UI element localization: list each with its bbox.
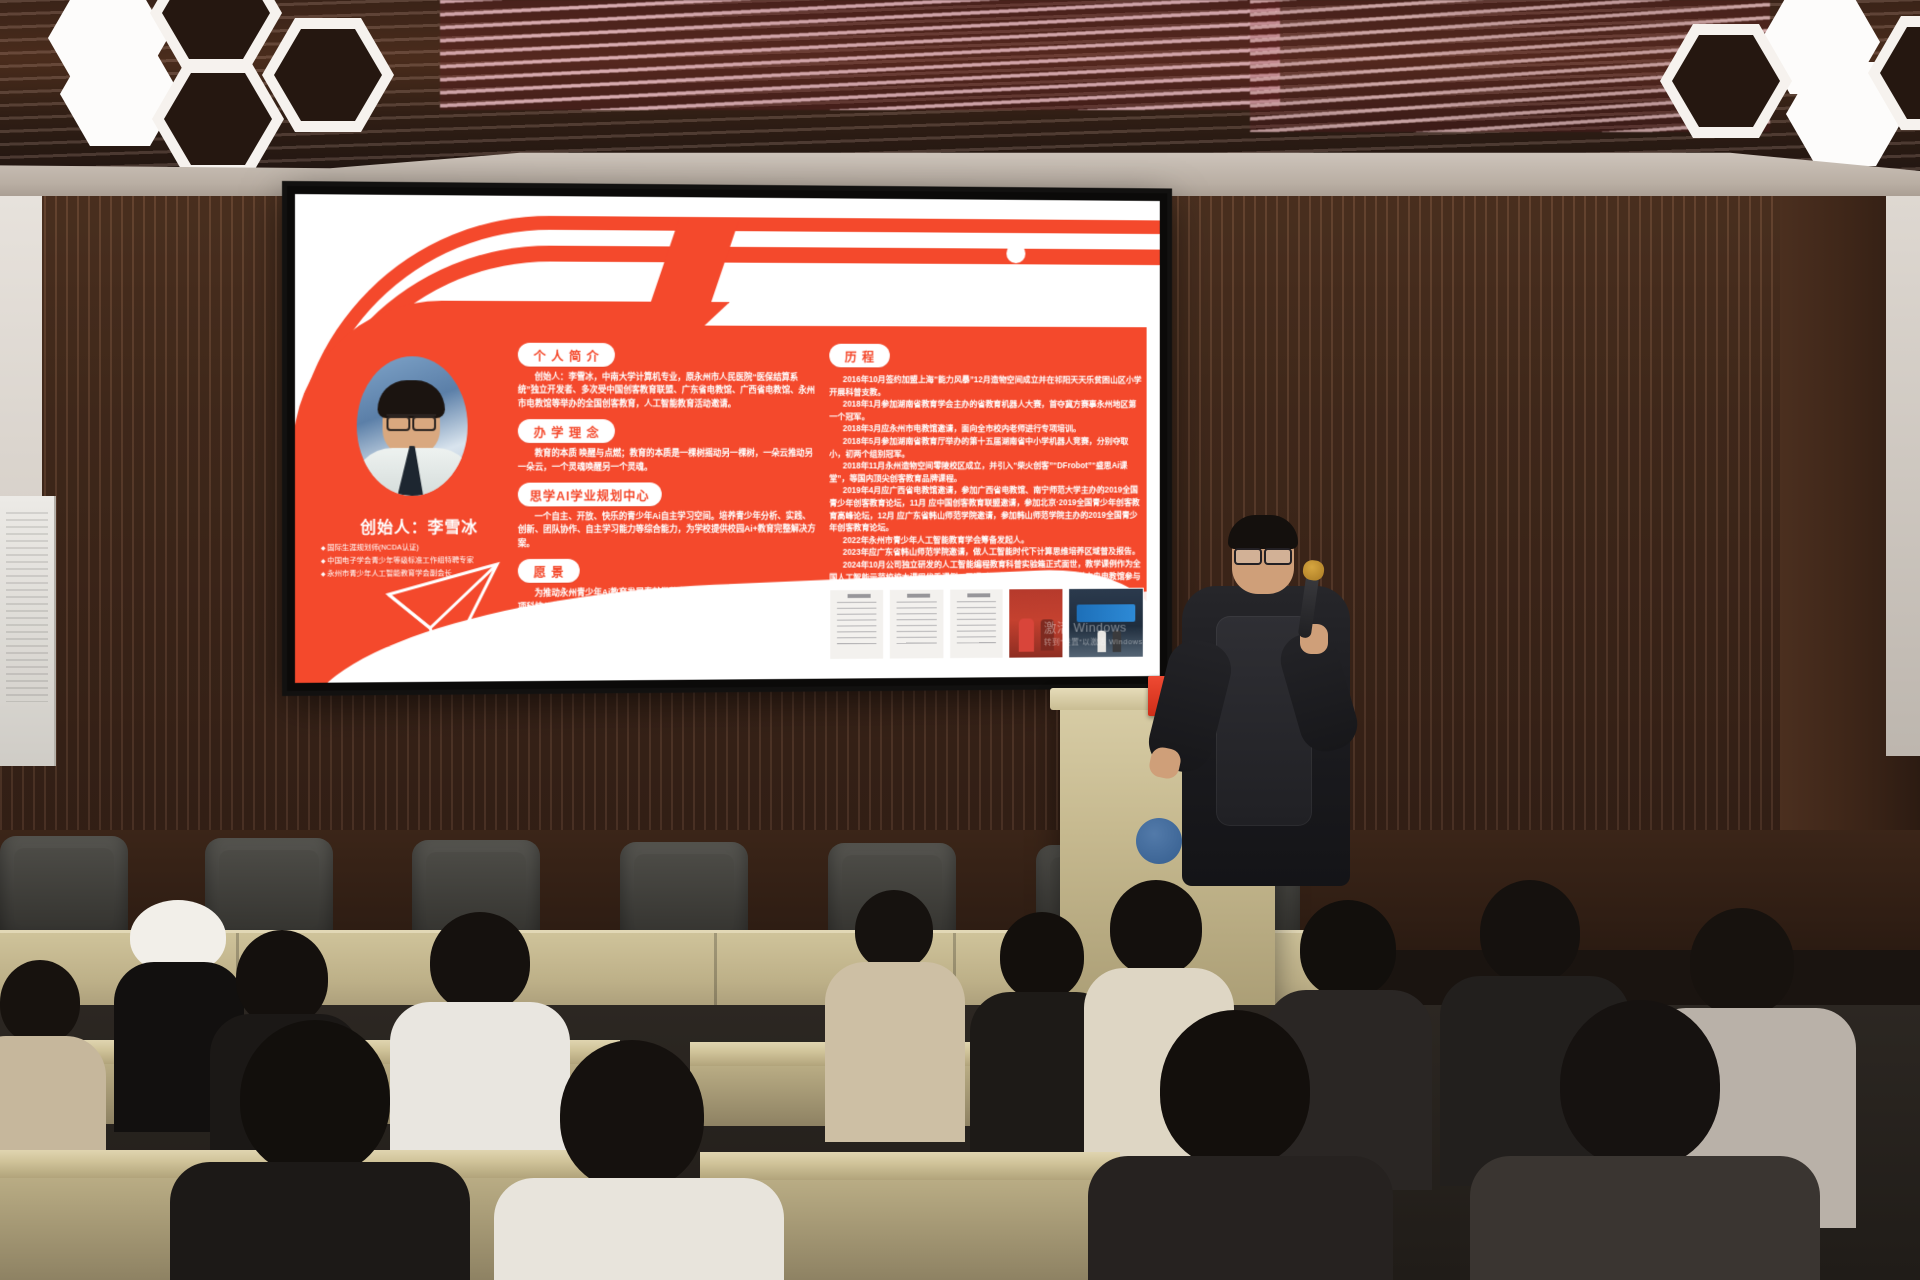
timeline-entry: 2018年1月参加湖南省教育学会主办的省教育机器人大赛，首夺冀方赛事永州地区第一… [829, 398, 1143, 423]
podium-emblem-icon [1136, 818, 1182, 864]
section-pill-profile: 个 人 简 介 [518, 343, 615, 367]
timeline-list: 2016年10月签约加盟上海“能力风暴”12月造物空间成立并在祁阳天天乐贫困山区… [829, 373, 1143, 608]
timeline-entry: 2023年应广东省韩山师范学院邀请，做人工智能时代下计算思维培养区域普及报告。 [829, 545, 1143, 559]
audience-head [1160, 1010, 1310, 1168]
audience-body [1470, 1156, 1820, 1280]
thumbnail-certificate-2 [889, 589, 944, 660]
presentation-scene: 创始人：李雪冰 国际生涯规划师(NCDA认证) 中国电子学会青少年等级标准工作组… [0, 0, 1920, 1280]
timeline-entry: 2019年4月应广西省电教馆邀请，参加广西省电教馆、南宁师范大学主办的2019全… [829, 484, 1143, 534]
audience-head [1300, 900, 1396, 998]
led-presentation-screen[interactable]: 创始人：李雪冰 国际生涯规划师(NCDA认证) 中国电子学会青少年等级标准工作组… [287, 186, 1167, 691]
ceiling-light-strip-center [440, 0, 1280, 110]
speaker-person [1180, 520, 1360, 900]
audience-head [240, 1020, 390, 1176]
audience-desk-front-row [700, 1152, 1120, 1182]
section-body-philosophy: 教育的本质 唤醒与点燃；教育的本质是一棵树摇动另一棵树，一朵云推动另一朵云，一个… [518, 447, 818, 474]
thumbnail-certificate-1 [829, 589, 884, 660]
thumbnail-certificate-3 [949, 588, 1004, 659]
founder-portrait-photo [357, 356, 468, 496]
watermark-line-2: 转到“设置”以激活 Windows [1044, 636, 1143, 647]
audience-head [560, 1040, 704, 1190]
section-body-center: 一个自主、开放、快乐的青少年Ai自主学习空间。培养青少年分析、实践、创新、团队协… [518, 510, 818, 551]
audience-head [1690, 908, 1794, 1016]
portrait-glasses-icon [387, 414, 437, 426]
screen-display-area: 创始人：李雪冰 国际生涯规划师(NCDA认证) 中国电子学会青少年等级标准工作组… [295, 194, 1160, 683]
audience-body [494, 1178, 784, 1280]
timeline-entry: 2018年3月应永州市电教馆邀请，面向全市校内老师进行专项培训。 [829, 423, 1143, 435]
founder-credentials-list: 国际生涯规划师(NCDA认证) 中国电子学会青少年等级标准工作组特聘专家 永州市… [321, 541, 527, 581]
red-panel-notch [705, 302, 1155, 327]
timeline-entry: 2018年11月永州造物空间零陵校区成立，并引入“柴火创客”“DFrobot”“… [829, 460, 1143, 485]
audience-body [170, 1162, 470, 1280]
slide-canvas: 创始人：李雪冰 国际生涯规划师(NCDA认证) 中国电子学会青少年等级标准工作组… [295, 194, 1160, 683]
audience-body [1088, 1156, 1393, 1280]
audience-body [825, 962, 965, 1142]
watermark-line-1: 激活 Windows [1044, 620, 1127, 635]
credential-item: 永州市青少年人工智能教育学会副会长 [321, 567, 527, 581]
section-body-vision: 为推动永州青少年Ai教育发展奉献微薄之力；积极参与乡村Ai教育支教及各项科技公益… [518, 586, 818, 614]
credential-item: 国际生涯规划师(NCDA认证) [321, 541, 527, 555]
section-pill-center: 思学AI学业规划中心 [518, 482, 661, 506]
audience-head [1560, 1000, 1720, 1168]
audience-head [430, 912, 530, 1012]
section-pill-philosophy: 办 学 理 念 [518, 419, 615, 443]
slide-column-right: 历 程 2016年10月签约加盟上海“能力风暴”12月造物空间成立并在祁阳天天乐… [829, 344, 1143, 608]
timeline-entry: 2018年5月参加湖南省教育厅举办的第十五届湖南省中小学机器人竞赛，分别夺取小，… [829, 435, 1143, 460]
section-pill-vision: 愿 景 [518, 559, 580, 583]
portrait-hair [378, 380, 445, 418]
audience-head [855, 890, 933, 970]
founder-name-caption: 创始人：李雪冰 [325, 513, 513, 537]
section-body-profile: 创始人：李雪冰，中南大学计算机专业，原永州市人民医院“医保结算系统”独立开发者、… [518, 371, 818, 411]
windows-activation-watermark: 激活 Windows 转到“设置”以激活 Windows [1044, 617, 1143, 648]
speaker-hair [1228, 515, 1298, 549]
timeline-entry: 2022年永州市青少年人工智能教育学会筹备发起人。 [829, 533, 1143, 546]
audience-head [1480, 880, 1580, 984]
air-conditioner [0, 496, 56, 766]
audience-head [1000, 912, 1084, 1000]
credential-item: 中国电子学会青少年等级标准工作组特聘专家 [321, 554, 527, 568]
white-dot-accent [1006, 244, 1025, 264]
audience-head [236, 930, 328, 1026]
audience-head [0, 960, 80, 1044]
section-pill-timeline: 历 程 [829, 344, 890, 368]
audience-head [1110, 880, 1202, 976]
slide-column-left: 个 人 简 介 创始人：李雪冰，中南大学计算机专业，原永州市人民医院“医保结算系… [518, 343, 818, 623]
timeline-entry: 2016年10月签约加盟上海“能力风暴”12月造物空间成立并在祁阳天天乐贫困山区… [829, 373, 1143, 398]
wall-trim-right [1886, 196, 1920, 756]
speaker-glasses-icon [1234, 548, 1292, 561]
